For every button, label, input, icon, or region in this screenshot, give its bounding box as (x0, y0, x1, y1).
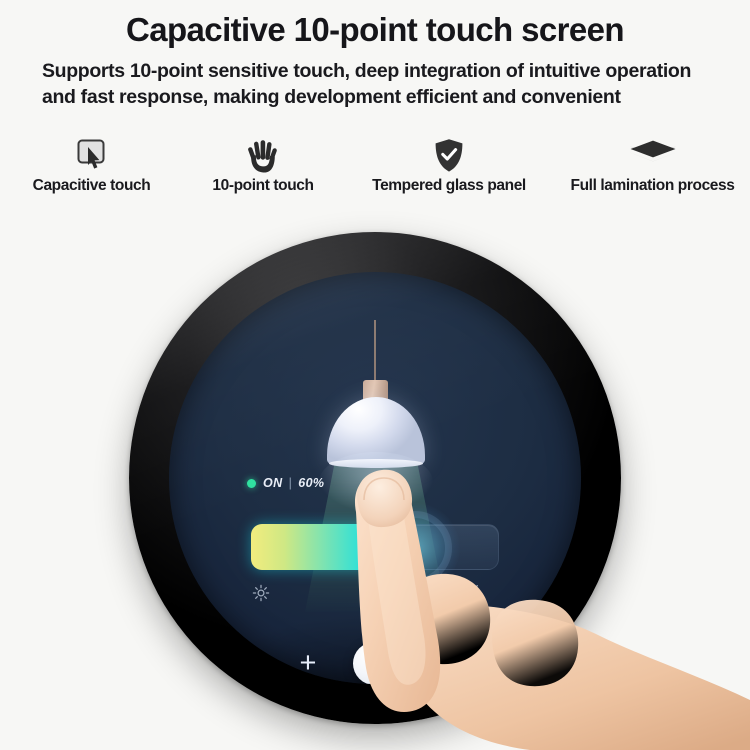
capacitive-touch-icon (72, 138, 112, 174)
device-wrapper: ON | 60% (0, 0, 750, 750)
status-badge: ON | 60% (247, 476, 324, 490)
brightness-low-icon[interactable] (252, 584, 270, 602)
power-icon (364, 651, 385, 677)
finger-touch-pointer (0, 0, 750, 750)
page-root: Capacitive 10-point touch screen Support… (0, 0, 750, 750)
feature-label: Full lamination process (571, 177, 735, 195)
power-button[interactable] (353, 642, 396, 684)
lamp-light-beam (305, 462, 447, 612)
brightness-slider-fill (251, 524, 403, 570)
hand-icon (246, 138, 280, 174)
lamination-layers-icon (626, 138, 680, 174)
status-state: ON (263, 476, 283, 490)
lamp-glow (319, 452, 433, 512)
feature-item-10-point-touch: 10-point touch (183, 138, 343, 195)
lamp-shade (327, 397, 425, 465)
feature-item-tempered-glass-panel: Tempered glass panel (343, 138, 555, 195)
lamp-cap (363, 380, 388, 402)
lamp-cord (374, 320, 376, 383)
decrease-button[interactable]: − (503, 650, 531, 678)
header: Capacitive 10-point touch screen Support… (0, 0, 750, 111)
feature-label: 10-point touch (212, 177, 313, 195)
slider-handle-glow[interactable] (370, 503, 460, 593)
feature-list: Capacitive touch 10-point touch (0, 138, 750, 218)
brightness-slider-track[interactable] (251, 524, 499, 570)
brightness-high-icon[interactable] (463, 582, 481, 600)
page-subtitle: Supports 10-point sensitive touch, deep … (22, 59, 728, 111)
feature-label: Capacitive touch (33, 177, 151, 195)
touch-ripple (378, 511, 452, 585)
status-dot-icon (247, 479, 256, 488)
status-brightness-value: 60% (298, 476, 324, 490)
round-touch-device-bezel: ON | 60% (129, 232, 621, 724)
status-separator: | (289, 476, 293, 490)
page-title: Capacitive 10-point touch screen (22, 12, 728, 49)
shield-check-icon (434, 138, 464, 174)
feature-label: Tempered glass panel (372, 177, 526, 195)
feature-item-capacitive-touch: Capacitive touch (0, 138, 183, 195)
feature-item-full-lamination-process: Full lamination process (555, 138, 750, 195)
device-screen[interactable]: ON | 60% (169, 272, 581, 684)
pendant-lamp-illustration (169, 272, 581, 684)
increase-button[interactable]: + (294, 649, 322, 677)
status-text: ON | 60% (263, 476, 324, 490)
